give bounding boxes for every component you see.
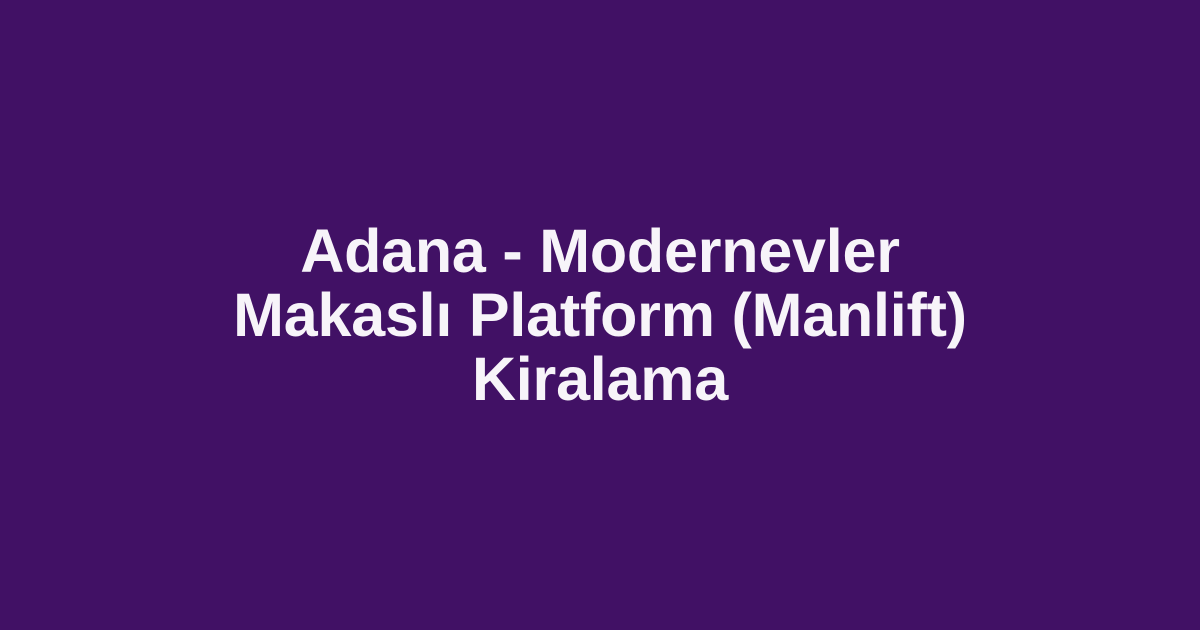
page-title: Adana - Modernevler Makaslı Platform (Ma… (210, 219, 990, 411)
share-card: Adana - Modernevler Makaslı Platform (Ma… (0, 0, 1200, 630)
title-block: Adana - Modernevler Makaslı Platform (Ma… (210, 219, 990, 411)
